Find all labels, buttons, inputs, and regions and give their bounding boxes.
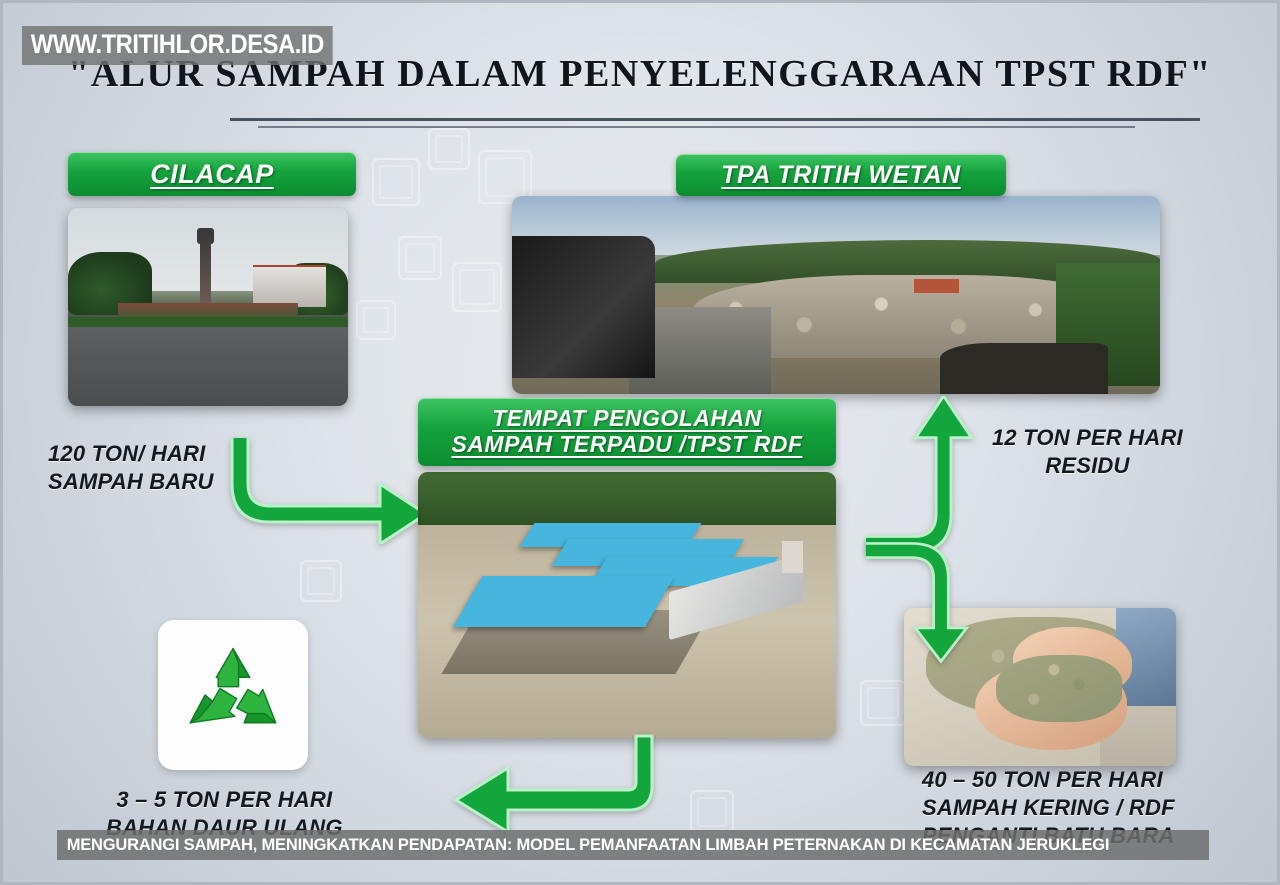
site-watermark: WWW.TRITIHLOR.DESA.ID [22,26,333,65]
bottom-caption-bar: MENGURANGI SAMPAH, MENINGKATKAN PENDAPAT… [57,830,1209,860]
note-dry-waste-line1: 40 – 50 TON PER HARI [922,766,1175,794]
note-input-line1: 120 TON/ HARI [48,440,214,468]
arrow-facility-to-recycle [404,730,668,836]
photo-cilacap [68,208,348,406]
note-residue: 12 TON PER HARI RESIDU [992,424,1183,480]
infographic-canvas: WWW.TRITIHLOR.DESA.ID "ALUR SAMPAH DALAM… [0,0,1280,885]
label-tpst-line2: SAMPAH TERPADU /TPST RDF [451,432,802,458]
note-residue-line1: 12 TON PER HARI [992,424,1183,452]
arrow-facility-to-rdf [866,540,986,666]
recycle-icon [177,643,289,747]
bottom-caption-text: MENGURANGI SAMPAH, MENINGKATKAN PENDAPAT… [57,835,1109,855]
arrow-facility-to-landfill [866,396,986,560]
label-tpst-line1: TEMPAT PENGOLAHAN [492,406,762,432]
label-cilacap-text: CILACAP [150,159,274,189]
label-tpa-tritih-wetan: TPA TRITIH WETAN [676,154,1006,196]
note-recyclable-line1: 3 – 5 TON PER HARI [106,786,343,814]
note-residue-line2: RESIDU [992,452,1183,480]
label-tpst-facility: TEMPAT PENGOLAHAN SAMPAH TERPADU /TPST R… [418,398,836,466]
label-cilacap: CILACAP [68,152,356,196]
note-input-line2: SAMPAH BARU [48,468,214,496]
note-dry-waste-line2: SAMPAH KERING / RDF [922,794,1175,822]
photo-tpst-facility [418,472,836,738]
photo-tpa-landfill [512,196,1160,394]
recycle-badge [158,620,308,770]
note-input-waste: 120 TON/ HARI SAMPAH BARU [48,440,214,496]
arrow-source-to-facility [226,438,418,544]
label-tpa-text: TPA TRITIH WETAN [721,161,960,189]
title-divider [230,118,1200,128]
